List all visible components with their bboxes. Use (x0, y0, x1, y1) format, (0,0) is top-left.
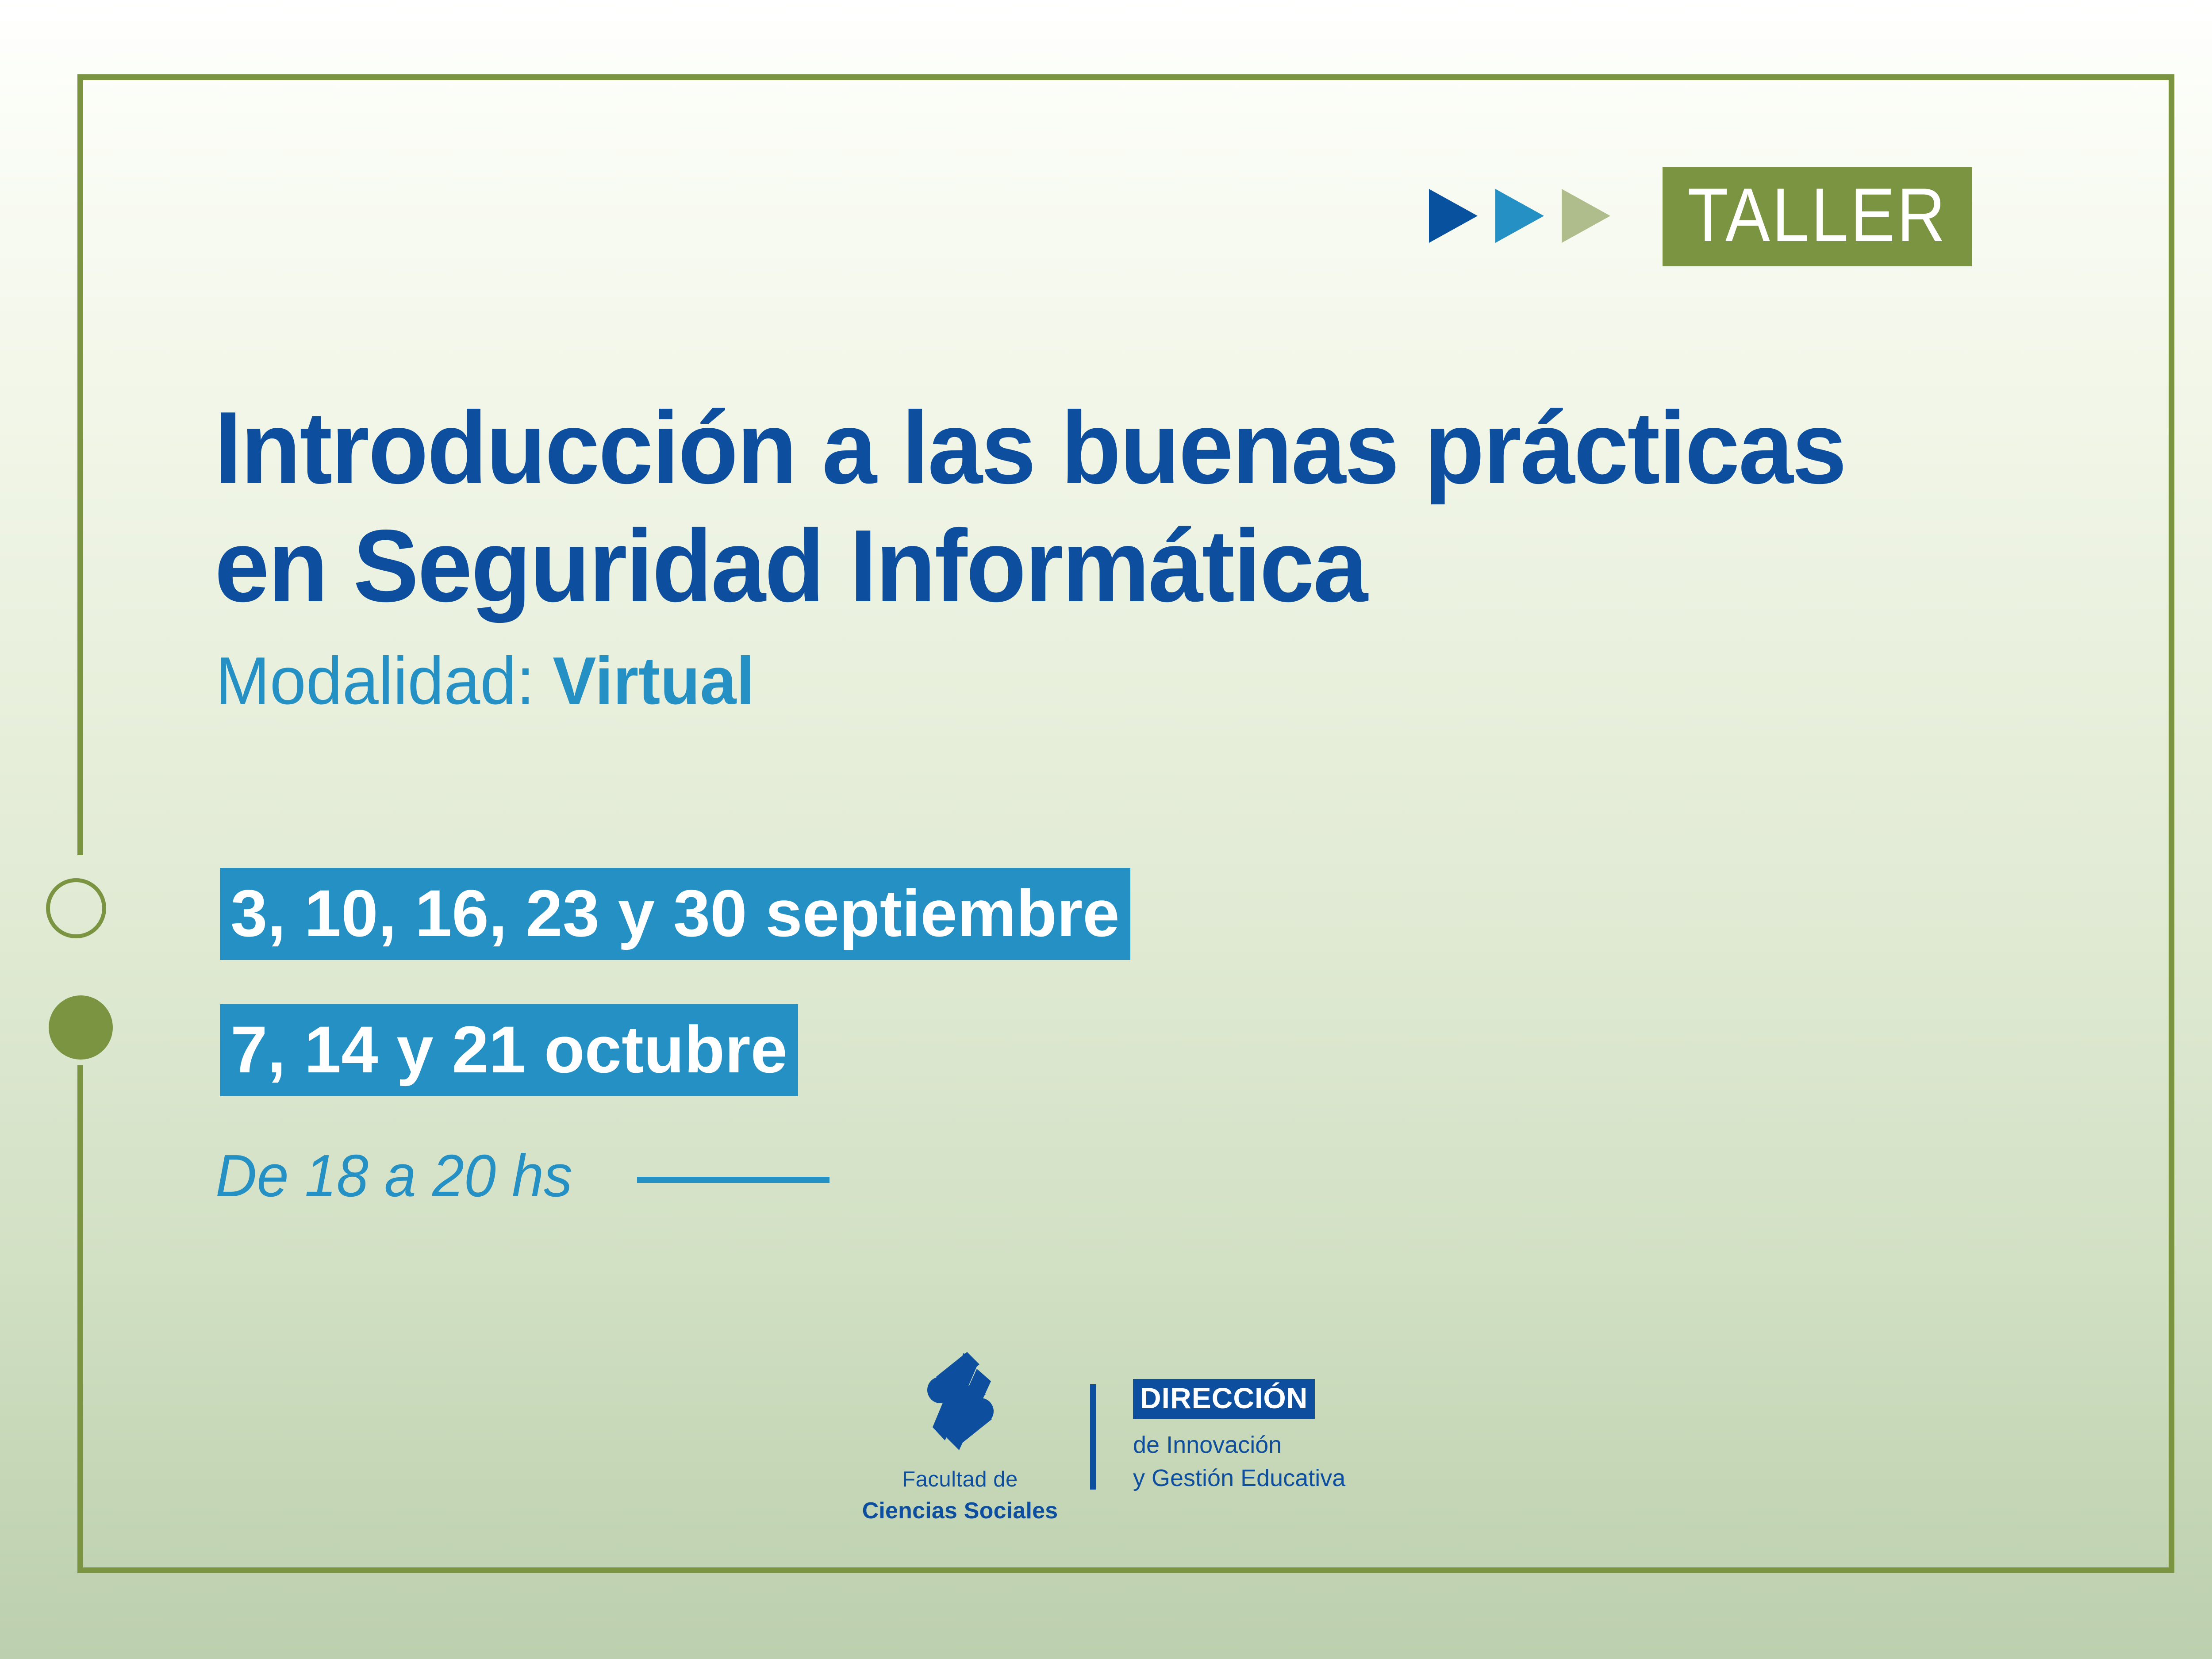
page-title: Introducción a las buenas prácticas en S… (215, 389, 1998, 626)
triangle-right-icon-2 (1495, 189, 1544, 243)
faculty-label-line-2: Ciencias Sociales (862, 1498, 1058, 1524)
frame-left-border-upper (77, 74, 83, 855)
poster-canvas: TALLER Introducción a las buenas práctic… (0, 0, 2212, 1659)
circle-outline-icon (46, 878, 106, 938)
modality-value: Virtual (553, 643, 754, 718)
frame-right-border (2169, 74, 2174, 1573)
date-bar-september: 3, 10, 16, 23 y 30 septiembre (220, 868, 1130, 960)
date-bar-october: 7, 14 y 21 octubre (220, 1004, 798, 1096)
triangle-right-icon-3 (1562, 189, 1610, 243)
modality-label: Modalidad: (215, 643, 553, 718)
frame-left-border-lower (77, 1065, 83, 1573)
faculty-crest-icon (921, 1349, 999, 1454)
time-text: De 18 a 20 hs (215, 1146, 572, 1206)
footer-divider (1090, 1384, 1096, 1490)
time-rule-divider (637, 1177, 829, 1183)
frame-top-border (77, 74, 2174, 80)
direction-subtitle-line-1: de Innovación (1133, 1429, 1345, 1462)
direction-logo-block: DIRECCIÓN de Innovación y Gestión Educat… (1133, 1379, 1345, 1494)
direction-badge: DIRECCIÓN (1133, 1379, 1315, 1419)
triangle-right-icon-1 (1429, 189, 1478, 243)
time-row: De 18 a 20 hs (215, 1146, 829, 1206)
taller-badge: TALLER (1663, 167, 1972, 266)
header-row: TALLER (1429, 167, 2014, 266)
faculty-logo-block: Facultad de Ciencias Sociales (854, 1349, 1066, 1524)
circle-filled-icon (49, 995, 113, 1060)
faculty-label-line-1: Facultad de (902, 1467, 1018, 1492)
direction-subtitle: de Innovación y Gestión Educativa (1133, 1429, 1345, 1494)
footer: Facultad de Ciencias Sociales DIRECCIÓN … (854, 1349, 1345, 1524)
page-title-line-1: Introducción a las buenas prácticas (215, 389, 1998, 507)
direction-subtitle-line-2: y Gestión Educativa (1133, 1462, 1345, 1495)
modality-line: Modalidad: Virtual (215, 647, 754, 714)
page-title-line-2: en Seguridad Informática (215, 507, 1998, 626)
arrow-group (1429, 189, 1610, 245)
frame-bottom-border (77, 1567, 2174, 1573)
